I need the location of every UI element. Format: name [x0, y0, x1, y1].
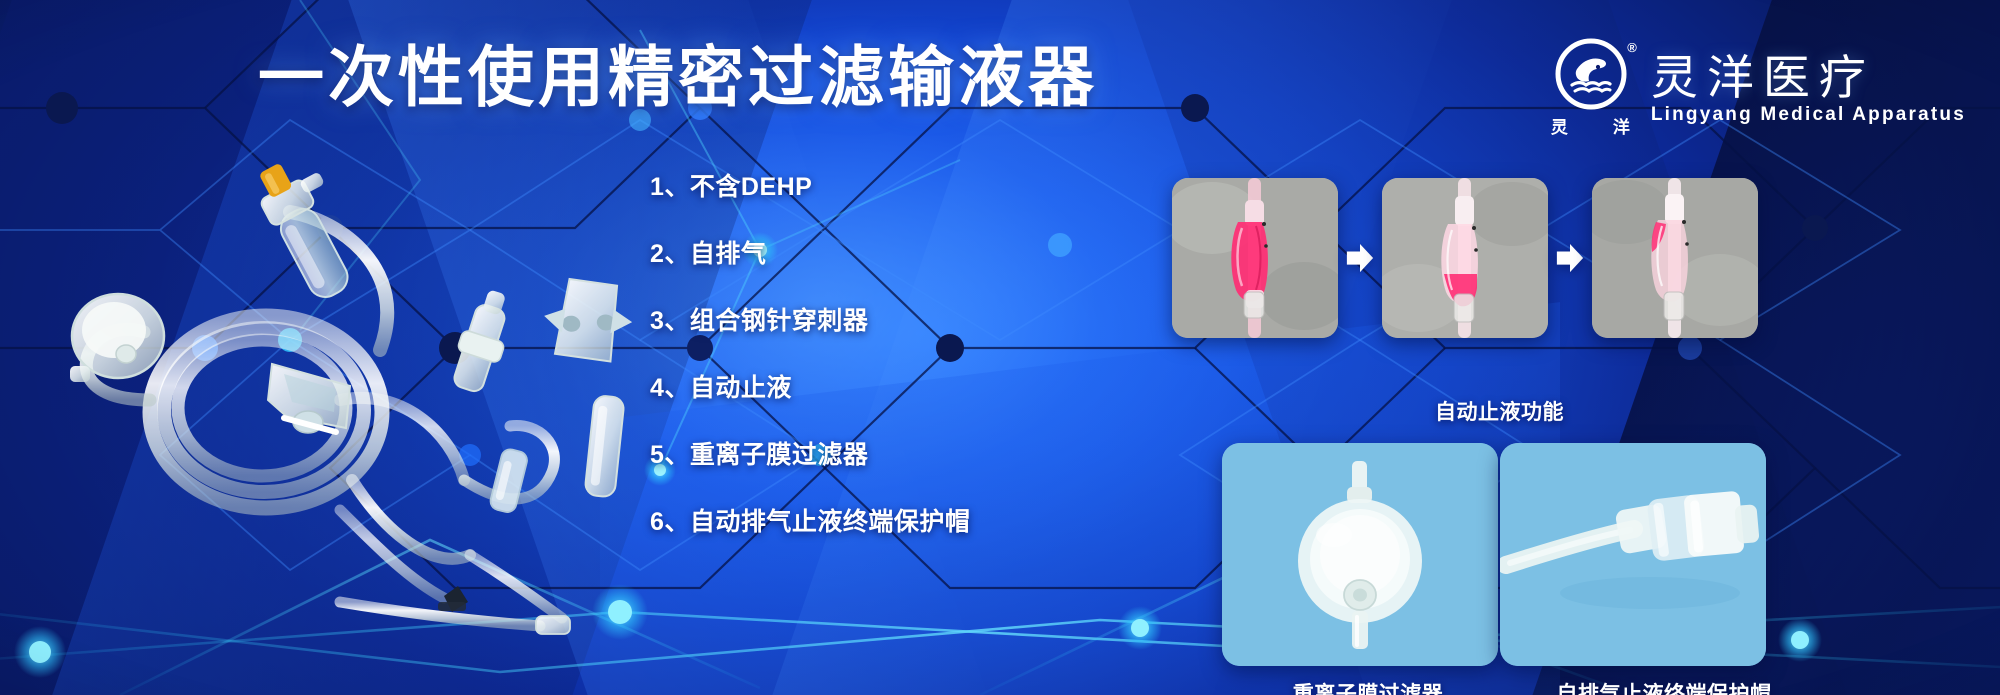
logo-emblem-subtext: 灵 洋 [1551, 113, 1631, 138]
wave-fish-circle-icon [1555, 38, 1627, 110]
needle-hub [536, 616, 570, 634]
logo-emblem-char-left: 灵 [1551, 113, 1569, 138]
brand-logo: ® 灵 洋 灵洋医疗 Lingyang Medical Apparatus [1549, 38, 1966, 142]
right-arrow-icon-2 [1548, 242, 1592, 274]
registered-trademark-icon: ® [1627, 40, 1637, 55]
logo-emblem-char-right: 洋 [1613, 113, 1631, 138]
brand-name-cn: 灵洋医疗 [1651, 54, 1966, 103]
inline-connector [489, 448, 529, 514]
feature-item-5: 5、重离子膜过滤器 [650, 443, 980, 468]
feature-item-6: 6、自动排气止液终端保护帽 [650, 510, 980, 535]
feature-item-2: 2、自排气 [650, 242, 980, 267]
brand-name-en: Lingyang Medical Apparatus [1651, 104, 1966, 126]
feature-item-3: 3、组合钢针穿刺器 [650, 309, 980, 334]
terminal-cap-photo-panel [1500, 443, 1766, 666]
terminal-cap-caption: 自排气止液终端保护帽 [1514, 678, 1814, 695]
filter-caption: 重离子膜过滤器 [1222, 678, 1514, 695]
feature-item-4: 4、自动止液 [650, 376, 980, 401]
sequence-caption: 自动止液功能 [1435, 396, 1564, 426]
sequence-photo-3 [1592, 178, 1758, 338]
brand-text: 灵洋医疗 Lingyang Medical Apparatus [1651, 54, 1966, 127]
product-banner: 一次性使用精密过滤输液器 ® 灵 洋 灵洋医疗 Lingyang Medical… [0, 0, 2000, 695]
sequence-photo-1 [1172, 178, 1338, 338]
filter-photo-panel [1222, 443, 1498, 666]
filter-disc [70, 294, 164, 382]
page-title: 一次性使用精密过滤输液器 [258, 44, 1098, 110]
feature-item-1: 1、不含DEHP [650, 175, 980, 200]
sequence-photo-2 [1382, 178, 1548, 338]
y-connector [446, 286, 519, 397]
wing-clamp [539, 276, 637, 364]
terminal-cap [584, 395, 624, 498]
auto-stop-sequence [1172, 178, 1758, 338]
product-photo [40, 150, 660, 670]
right-arrow-icon [1338, 242, 1382, 274]
logo-emblem: ® 灵 洋 [1549, 38, 1633, 142]
panel-captions: 重离子膜过滤器 自排气止液终端保护帽 [1222, 678, 1842, 695]
feature-list: 1、不含DEHP 2、自排气 3、组合钢针穿刺器 4、自动止液 5、重离子膜过滤… [650, 175, 980, 535]
